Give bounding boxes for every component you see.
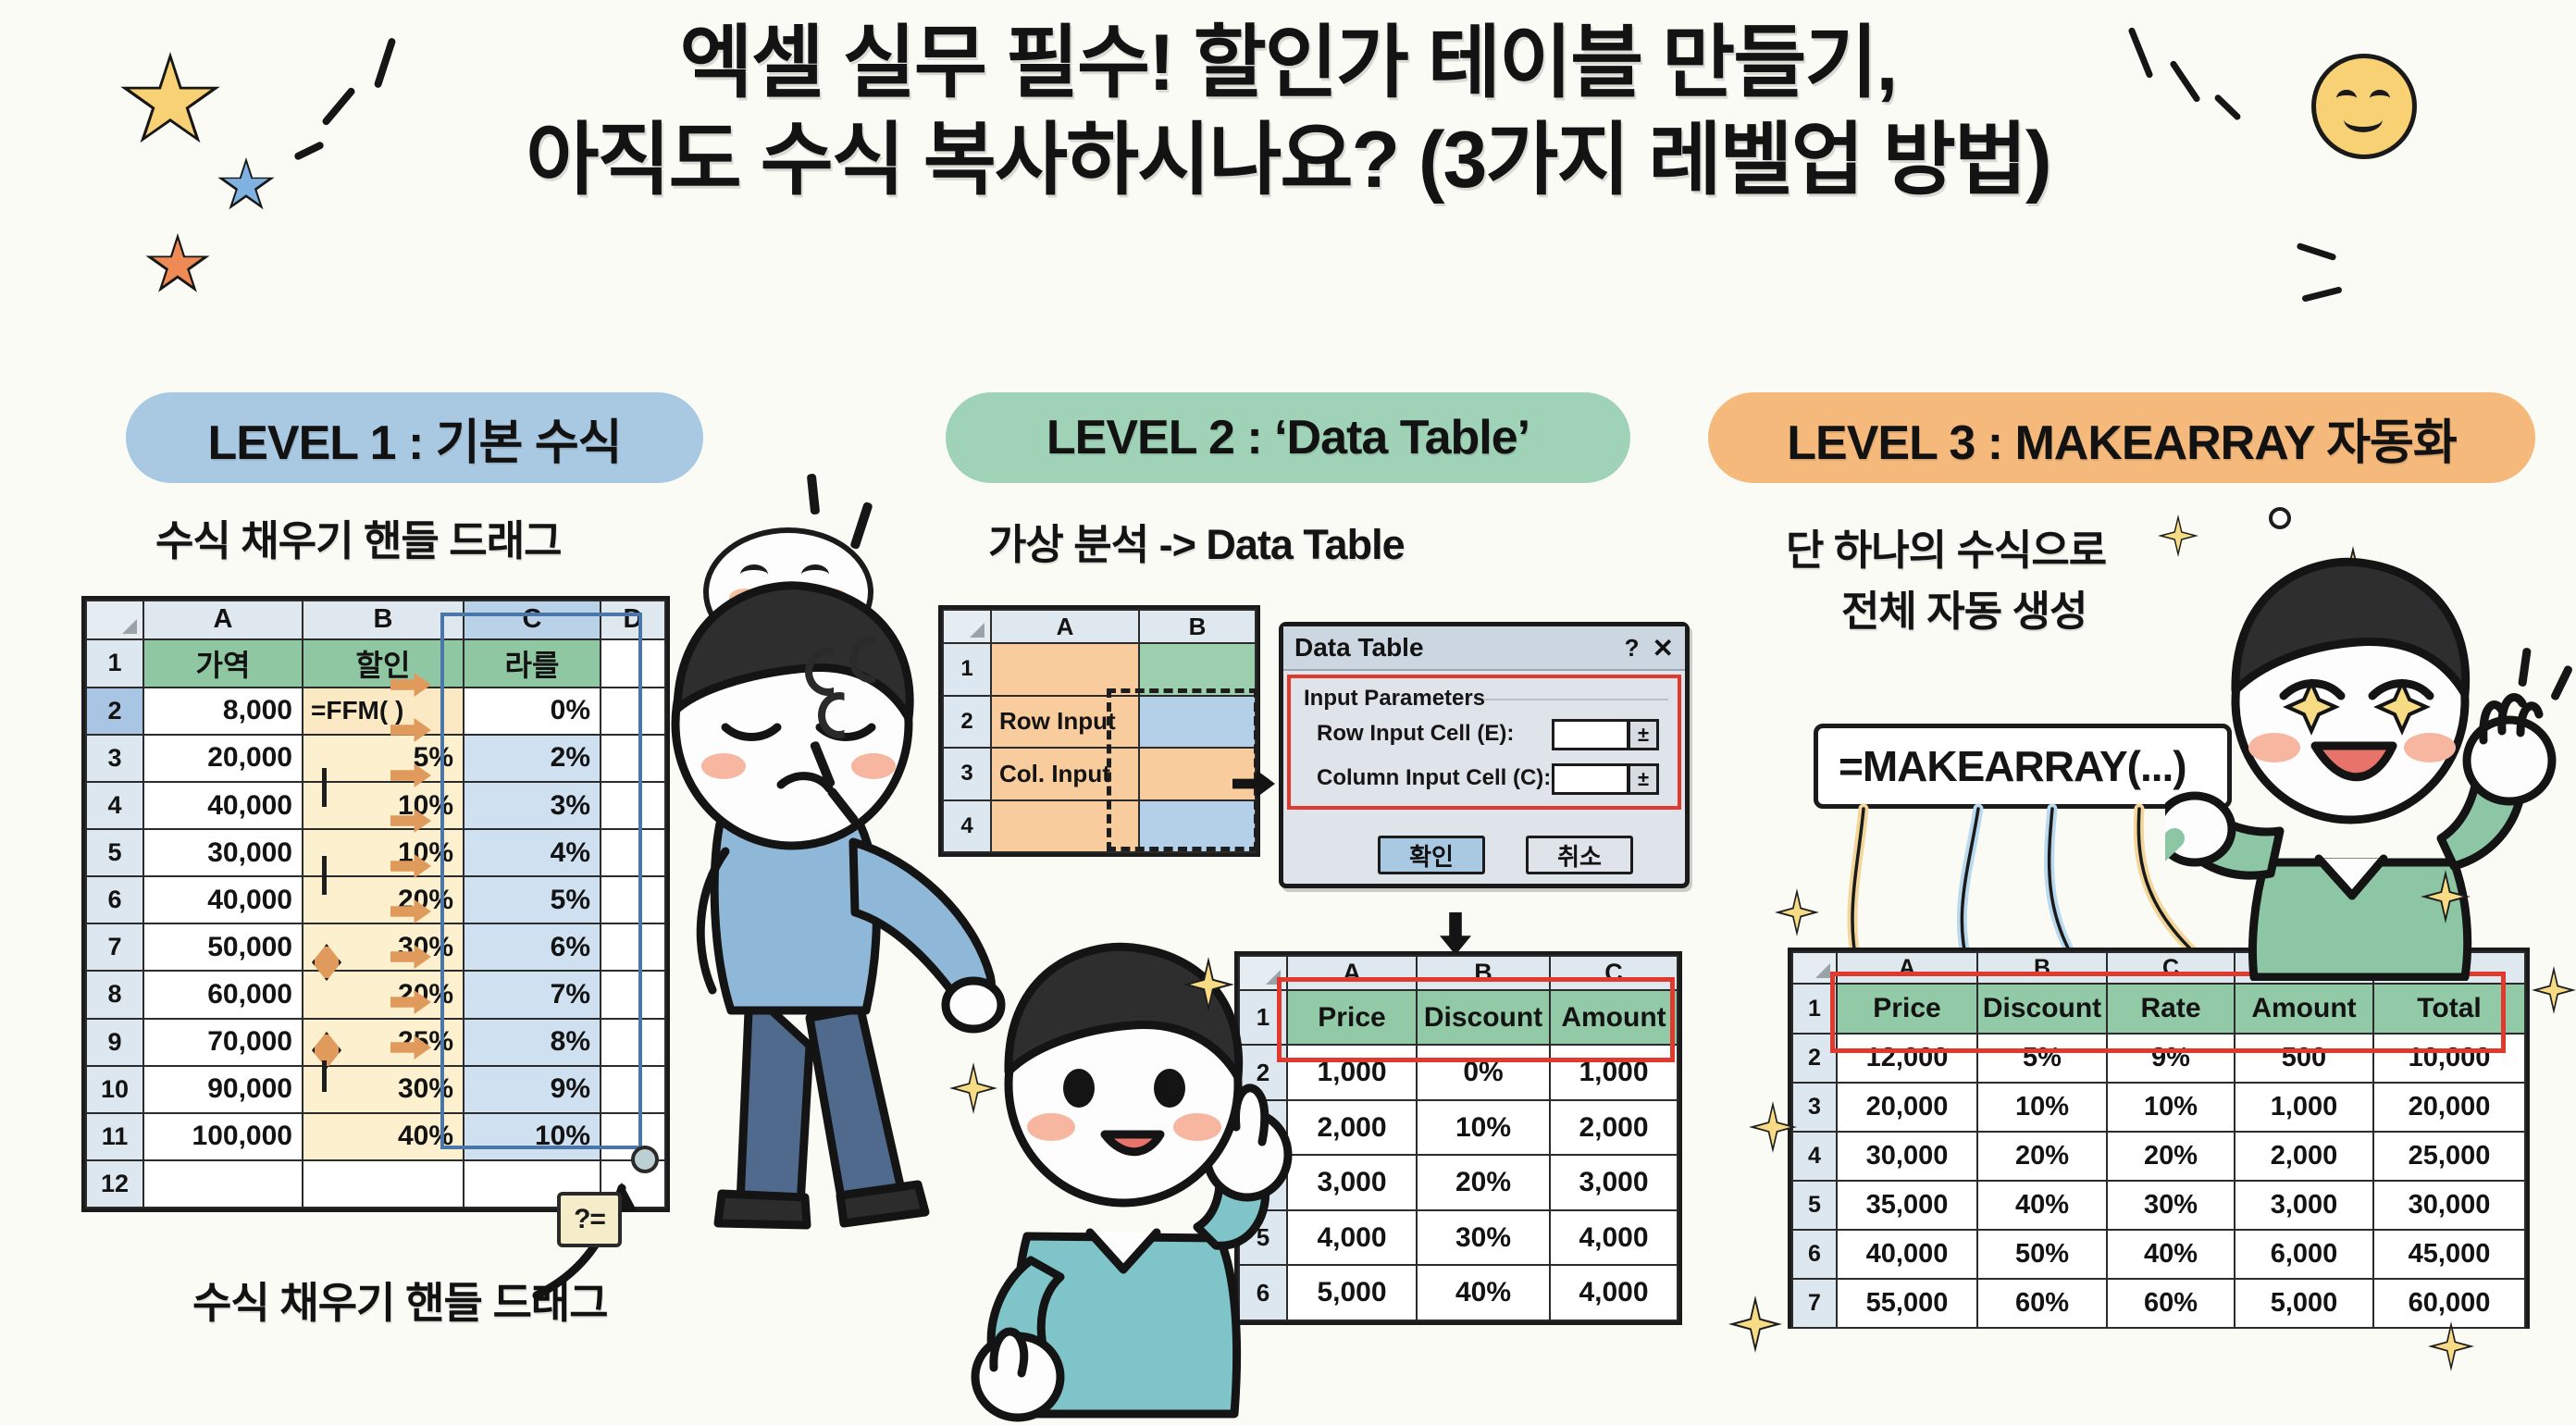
character-pointing-boy [942,907,1331,1425]
col-header-b-4[interactable]: B [1977,952,2107,984]
cell-b2[interactable]: =FFM( ) [303,688,464,735]
level-3-spreadsheet[interactable]: A B C D E 1 Price Discount Rate Amount T… [1788,948,2530,1329]
ok-button[interactable]: 확인 [1378,836,1485,874]
cell-d4-4[interactable]: 2,000 [2235,1132,2373,1181]
cell-a9[interactable]: 70,000 [143,1019,303,1066]
motion-line-1 [849,502,873,551]
cell-b4-3[interactable]: 20% [1417,1155,1550,1210]
cell-b3[interactable]: 5% [303,735,464,782]
cell-b7-4[interactable]: 60% [1977,1279,2107,1328]
level-1-badge[interactable]: LEVEL 1 : 기본 수식 [126,392,703,483]
cell-c1[interactable]: 라를 [464,639,601,688]
cell-c7-4[interactable]: 60% [2107,1279,2235,1328]
cell-c4-4[interactable]: 20% [2107,1132,2235,1181]
row-header-4-4[interactable]: 4 [1792,1132,1837,1181]
cell-d7-4[interactable]: 5,000 [2235,1279,2373,1328]
row-header-9[interactable]: 9 [86,1019,143,1066]
level-3-subtitle-line1: 단 하나의 수식으로 [1786,516,2106,576]
cell-c2-3[interactable]: 1,000 [1550,1045,1678,1100]
row-header-3-2[interactable]: 3 [943,748,991,799]
dialog-title-text: Data Table [1294,633,1625,663]
row-header-2-4[interactable]: 2 [1792,1034,1837,1083]
drag-marker-4-stem [322,1060,327,1092]
row-input-cell-label: Row Input Cell (E): [1317,721,1514,747]
spark-stroke-8 [2301,286,2342,302]
smiley-face-icon [2311,54,2417,159]
col-header-a-2[interactable]: A [991,610,1139,643]
cell-c6[interactable]: 5% [464,876,601,923]
cell-e1-4[interactable]: Total [2373,984,2525,1034]
spark-stroke-7 [2296,242,2336,261]
select-all-corner-4[interactable] [1792,952,1837,984]
column-input-cell-label: Column Input Cell (C): [1317,765,1551,791]
cell-a4-4[interactable]: 30,000 [1837,1132,1977,1181]
row-header-7[interactable]: 7 [86,923,143,971]
cell-a12[interactable] [143,1160,303,1208]
cell-a11[interactable]: 100,000 [143,1113,303,1160]
cancel-button[interactable]: 취소 [1526,836,1633,874]
cell-e4-4[interactable]: 25,000 [2373,1132,2525,1181]
row-input-cell-field[interactable] [1552,719,1629,750]
flow-arrow-down-icon [1440,912,1471,955]
cell-a2[interactable]: 8,000 [143,688,303,735]
cell-b5-3[interactable]: 30% [1417,1210,1550,1266]
cell-b5[interactable]: 10% [303,829,464,876]
column-input-cell-field[interactable] [1552,763,1629,795]
cell-e6-4[interactable]: 45,000 [2373,1230,2525,1279]
cell-c3-4[interactable]: 10% [2107,1083,2235,1132]
cell-a10[interactable]: 90,000 [143,1066,303,1113]
data-table-dialog[interactable]: Data Table ? ✕ Input Parameters Row Inpu… [1279,622,1690,888]
cell-a2-4[interactable]: 12,000 [1837,1034,1977,1083]
cell-b6[interactable]: 20% [303,876,464,923]
row-header-6[interactable]: 6 [86,876,143,923]
cell-c5-4[interactable]: 30% [2107,1181,2235,1230]
cell-a7[interactable]: 50,000 [143,923,303,971]
drag-cursor-1 [322,768,327,807]
cell-a3-2[interactable]: Col. Input [991,748,1139,799]
cell-b1-2[interactable] [1139,643,1256,695]
cell-a6[interactable]: 40,000 [143,876,303,923]
cell-a4[interactable]: 40,000 [143,782,303,829]
sparkle-icon-g [1755,1108,1790,1146]
row-header-5-4[interactable]: 5 [1792,1181,1837,1230]
col-header-c[interactable]: C [464,601,601,639]
level-2-badge[interactable]: LEVEL 2 : ‘Data Table’ [946,392,1630,483]
select-all-corner-2[interactable] [943,610,991,643]
level-1-subtitle: 수식 채우기 핸들 드래그 [155,507,562,567]
cell-b2-2[interactable] [1139,696,1256,748]
row-header-2-2[interactable]: 2 [943,696,991,748]
sparkle-icon-j [2434,1328,2468,1365]
page-title-line2: 아직도 수식 복사하시나요? (3가지 레벨업 방법) [0,114,2576,207]
cell-d3-4[interactable]: 1,000 [2235,1083,2373,1132]
level-2-input-grid[interactable]: A B 1 2 Row Input 3 Col. Input 4 [938,605,1260,857]
cell-d2-4[interactable]: 500 [2235,1034,2373,1083]
level-1-bottom-caption: 수식 채우기 핸들 드래그 [192,1270,608,1331]
row-header-6-4[interactable]: 6 [1792,1230,1837,1279]
row-header-2[interactable]: 2 [86,688,143,735]
cell-b6-4[interactable]: 50% [1977,1230,2107,1279]
cell-c11[interactable]: 10% [464,1113,601,1160]
cell-c8[interactable]: 7% [464,971,601,1018]
cell-a5[interactable]: 30,000 [143,829,303,876]
group-divider [1483,699,1668,700]
cell-c9[interactable]: 8% [464,1019,601,1066]
cell-b5-4[interactable]: 40% [1977,1181,2107,1230]
cell-b3-3[interactable]: 10% [1417,1100,1550,1156]
cell-c3[interactable]: 2% [464,735,601,782]
cell-a1-4[interactable]: Price [1837,984,1977,1034]
cell-b3-4[interactable]: 10% [1977,1083,2107,1132]
row-header-10[interactable]: 10 [86,1066,143,1113]
cell-e5-4[interactable]: 30,000 [2373,1181,2525,1230]
cell-a4-2[interactable] [991,800,1139,852]
sparkle-icon-h [1781,895,1813,930]
row-header-11[interactable]: 11 [86,1113,143,1160]
level-3-subtitle-line2: 전체 자동 생성 [1841,577,2087,638]
cell-b1[interactable]: 할인 [303,639,464,688]
cell-c5[interactable]: 4% [464,829,601,876]
select-all-corner[interactable] [86,601,143,639]
input-parameters-group: Input Parameters Row Input Cell (E): ± C… [1287,675,1681,810]
row-header-4[interactable]: 4 [86,782,143,829]
input-parameters-label: Input Parameters [1304,686,1485,712]
col-header-b-3[interactable]: B [1417,956,1550,990]
col-header-b-2[interactable]: B [1139,610,1256,643]
cell-b1-4[interactable]: Discount [1977,984,2107,1034]
cell-d6-4[interactable]: 6,000 [2235,1230,2373,1279]
sparkle-icon-i [1736,1303,1775,1345]
col-header-a-4[interactable]: A [1837,952,1977,984]
drag-cursor-2 [322,856,327,895]
dialog-titlebar: Data Table ? ✕ [1283,626,1685,671]
row-header-3-4[interactable]: 3 [1792,1083,1837,1132]
help-icon[interactable]: ? [1625,634,1640,663]
level-1-spreadsheet[interactable]: A B C D 1 가역 할인 라를 2 8,000 =FFM( ) 0% 3 [81,596,670,1212]
level-3-badge[interactable]: LEVEL 3 : MAKEARRAY 자동화 [1708,392,2535,483]
cell-c2[interactable]: 0% [464,688,601,735]
cell-a8[interactable]: 60,000 [143,971,303,1018]
cell-b11[interactable]: 40% [303,1113,464,1160]
row-header-1-4[interactable]: 1 [1792,984,1837,1034]
motion-line-2 [807,474,821,515]
col-header-c-3[interactable]: C [1550,956,1678,990]
cell-e7-4[interactable]: 60,000 [2373,1279,2525,1328]
cell-d5-4[interactable]: 3,000 [2235,1181,2373,1230]
cell-a6-4[interactable]: 40,000 [1837,1230,1977,1279]
cell-a3[interactable]: 20,000 [143,735,303,782]
cell-e2-4[interactable]: 10,000 [2373,1034,2525,1083]
cell-d1-4[interactable]: Amount [2235,984,2373,1034]
cell-b2-4[interactable]: 5% [1977,1034,2107,1083]
col-header-a[interactable]: A [143,601,303,639]
row-header-5[interactable]: 5 [86,829,143,876]
row-header-1[interactable]: 1 [86,639,143,688]
cell-c10[interactable]: 9% [464,1066,601,1113]
cell-b4[interactable]: 10% [303,782,464,829]
cell-b4-2[interactable] [1139,800,1256,852]
cell-e3-4[interactable]: 20,000 [2373,1083,2525,1132]
cell-a7-4[interactable]: 55,000 [1837,1279,1977,1328]
cell-a5-4[interactable]: 35,000 [1837,1181,1977,1230]
cell-c3-3[interactable]: 2,000 [1550,1100,1678,1156]
row-input-collapse-icon[interactable]: ± [1628,719,1659,750]
cell-c6-4[interactable]: 40% [2107,1230,2235,1279]
character-excited-boy [2165,500,2576,981]
close-icon[interactable]: ✕ [1653,633,1674,663]
cell-c6-3[interactable]: 4,000 [1550,1265,1678,1320]
row-header-7-4[interactable]: 7 [1792,1279,1837,1328]
row-header-12[interactable]: 12 [86,1160,143,1208]
row-header-4-2[interactable]: 4 [943,800,991,852]
cell-b1-3[interactable]: Discount [1417,990,1550,1046]
cell-c1-3[interactable]: Amount [1550,990,1678,1046]
cell-a1-2[interactable] [991,643,1139,695]
cell-b3-2[interactable] [1139,748,1256,799]
column-input-collapse-icon[interactable]: ± [1628,763,1659,795]
cell-c7[interactable]: 6% [464,923,601,971]
cell-a2-2[interactable]: Row Input [991,696,1139,748]
row-header-3[interactable]: 3 [86,735,143,782]
infographic-canvas: 엑셀 실무 필수! 할인가 테이블 만들기, 아직도 수식 복사하시나요? (3… [0,0,2576,1421]
cell-c5-3[interactable]: 4,000 [1550,1210,1678,1266]
cell-a3-4[interactable]: 20,000 [1837,1083,1977,1132]
row-header-8[interactable]: 8 [86,971,143,1018]
row-header-1-2[interactable]: 1 [943,643,991,695]
cell-b10[interactable]: 30% [303,1066,464,1113]
cell-a1[interactable]: 가역 [143,639,303,688]
cell-c4-3[interactable]: 3,000 [1550,1155,1678,1210]
cell-b12[interactable] [303,1160,464,1208]
cell-b4-4[interactable]: 20% [1977,1132,2107,1181]
cell-c4[interactable]: 3% [464,782,601,829]
cell-b2-3[interactable]: 0% [1417,1045,1550,1100]
cell-c1-4[interactable]: Rate [2107,984,2235,1034]
cell-b6-3[interactable]: 40% [1417,1265,1550,1320]
col-header-b[interactable]: B [303,601,464,639]
cell-c2-4[interactable]: 9% [2107,1034,2235,1083]
